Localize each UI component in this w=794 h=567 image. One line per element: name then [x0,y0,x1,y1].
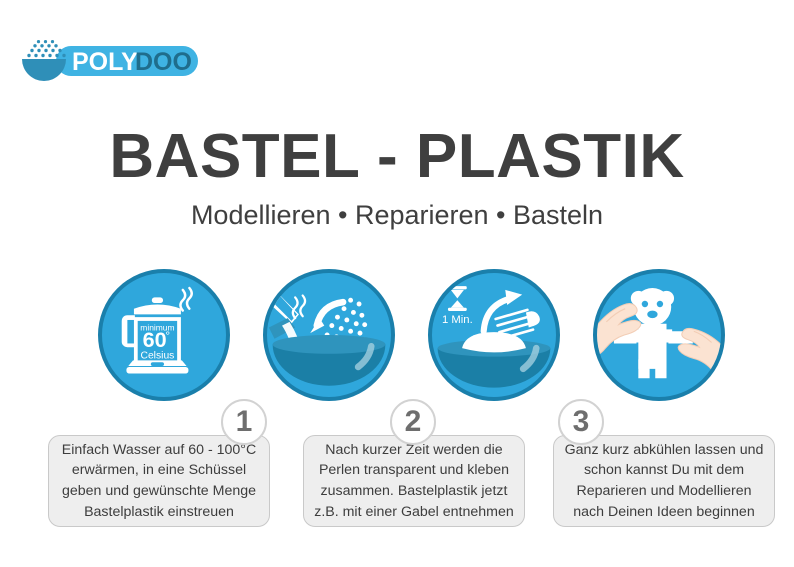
right-hand-shape [678,328,721,378]
icon-circle-shape-figure [593,269,725,401]
page-title: BASTEL - PLASTIK [0,124,794,189]
left-hand-shape [597,304,641,356]
logo-text-poly: POLY [72,48,138,76]
arrow-head-shape [505,290,522,305]
timer-fork-bowl-icon: 1 Min. [438,286,551,387]
step-number-badge: 3 [558,399,604,445]
step-text-box: Ganz kurz abkühlen lassen und schon kann… [553,435,775,527]
logo-bowl-shape [22,59,66,81]
hands-shaping-bear-icon [597,288,721,378]
step-number-badge: 1 [221,399,267,445]
steam-icon [180,288,191,311]
step-text-box: Nach kurzer Zeit werden die Perlen trans… [303,435,525,527]
pour-water-and-beads-icon [269,290,385,386]
logo-text-doo: DOO [135,48,192,76]
timer-label: 1 Min. [442,314,473,326]
kettle-temp-value: 60 [143,327,167,352]
hourglass-icon [448,286,467,311]
page-subtitle: Modellieren • Reparieren • Basteln [0,200,794,231]
step-text-box: Einfach Wasser auf 60 - 100°C erwärmen, … [48,435,270,527]
icon-circle-heat-water: minimum 60 ° Celsius [98,269,230,401]
kettle-temperature-icon: minimum 60 ° Celsius [122,288,192,373]
icon-circle-timer-fork: 1 Min. [428,269,560,401]
icon-circle-pour-beads [263,269,395,401]
step-number-badge: 2 [390,399,436,445]
kettle-degree-symbol: ° [165,329,170,343]
kettle-unit-label: Celsius [140,350,174,361]
polydoo-logo[interactable]: POLY DOO [20,38,200,84]
